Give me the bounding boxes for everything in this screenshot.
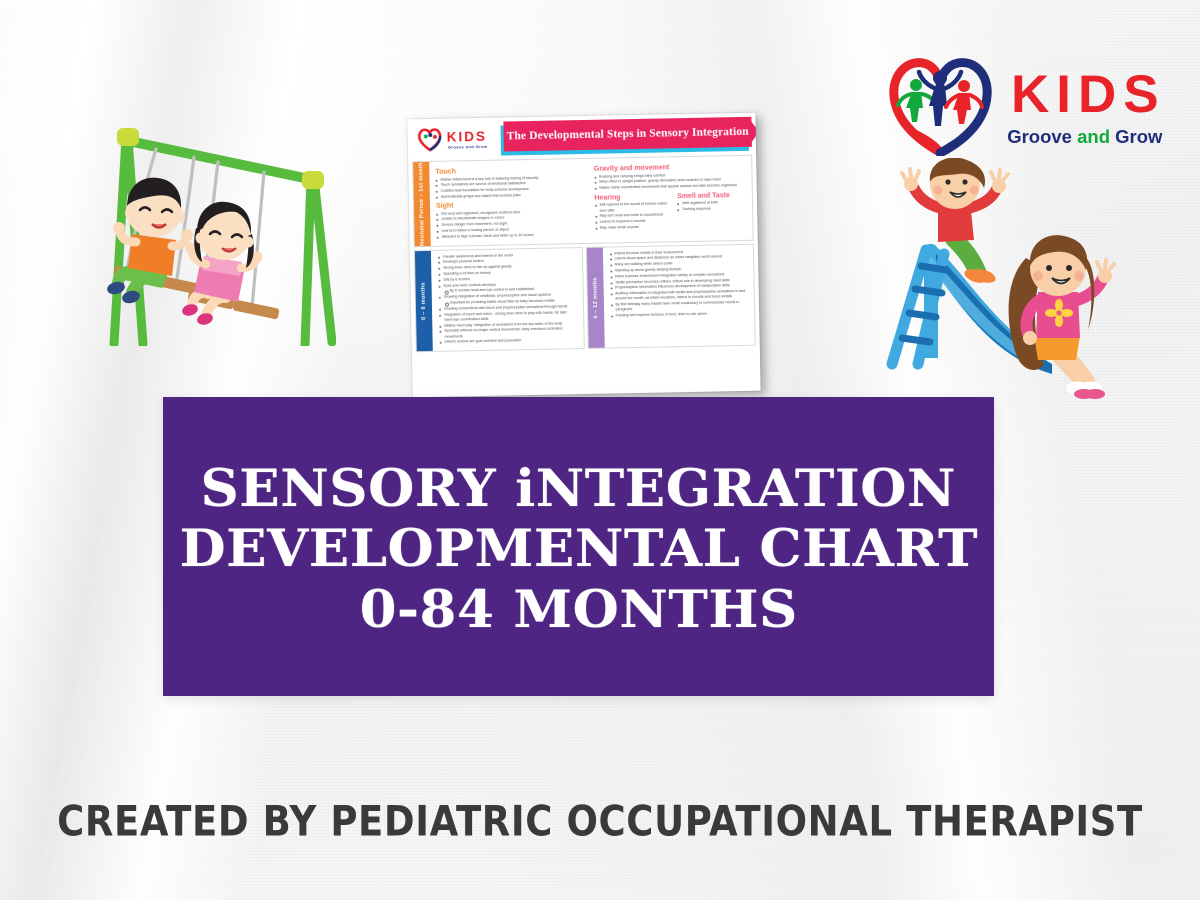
panel-tab-neonatal: Neonatal Period – 1st month (413, 162, 431, 246)
panel-tab-label: 0 – 6 months (420, 282, 427, 320)
document-banner-title: The Developmental Steps in Sensory Integ… (507, 126, 749, 143)
section-heading-smell-taste: Smell and Taste (677, 192, 747, 200)
brand-tagline-grow: Grow (1115, 126, 1162, 147)
children-on-swing-set-icon (96, 116, 336, 346)
section-list-hearing: Will respond to the sound of human voice… (595, 202, 672, 231)
title-line-3: 0-84 MONTHS (359, 580, 797, 640)
heart-hands-with-children-icon (888, 52, 994, 156)
panel-list-6-12-months: Infants become mobile in their environme… (609, 248, 748, 318)
sensory-integration-chart-document: KIDS Groove and Grow The Developmental S… (407, 113, 760, 398)
section-list-touch: Mother-infant bond is a key role in fost… (435, 174, 588, 200)
poster-canvas: KIDS Groove and Grow The Developmental S… (0, 0, 1200, 900)
title-line-2: DEVELOPMENTAL CHART (179, 519, 977, 579)
panel-tab-6-12-months: 6 – 12 months (586, 247, 604, 348)
section-list-smell-taste: Well organized at birth Sucking response (677, 200, 747, 212)
section-list-sight: Not very well organized, recognizes moth… (436, 208, 589, 239)
document-panel-6-12-months: 6 – 12 months Infants become mobile in t… (585, 243, 755, 349)
document-panel-0-6-months: 0 – 6 months Greater awareness and inter… (414, 247, 584, 353)
panel-tab-0-6-months: 0 – 6 months (415, 251, 433, 352)
panel-column-left: Touch Mother-infant bond is a key role i… (435, 163, 589, 240)
footer-credit: CREATED BY PEDIATRIC OCCUPATIONAL THERAP… (0, 797, 1200, 845)
section-list-gravity: Rocking and carrying brings baby comfort… (594, 171, 747, 191)
brand-logo: KIDS Groove and Grow (888, 52, 1166, 156)
brand-name: KIDS (1004, 68, 1166, 121)
brand-tagline-groove: Groove (1007, 126, 1072, 147)
document-brand-name: KIDS (447, 129, 488, 145)
title-banner: SENSORY iNTEGRATION DEVELOPMENTAL CHART … (163, 397, 994, 696)
document-brand-tagline: Groove and Grow (448, 144, 488, 150)
list-item: Will respond to the sound of human voice… (595, 202, 672, 214)
title-line-1: SENSORY iNTEGRATION (201, 459, 957, 519)
document-brand-mark-icon (416, 126, 442, 152)
panel-tab-label: 6 – 12 months (592, 277, 599, 318)
panel-column-right: Gravity and movement Rocking and carryin… (594, 160, 748, 237)
panel-tab-label: Neonatal Period – 1st month (418, 162, 426, 246)
list-item: Sucking response (677, 206, 747, 213)
panel-list-0-6-months: Greater awareness and interest in the wo… (438, 252, 577, 346)
section-heading-hearing: Hearing (594, 193, 671, 201)
document-panel-neonatal: Neonatal Period – 1st month Touch Mother… (412, 155, 754, 247)
document-banner: The Developmental Steps in Sensory Integ… (503, 117, 752, 152)
brand-wordmark: KIDS Groove and Grow (1004, 62, 1166, 147)
list-item: May make small sounds (595, 224, 672, 231)
document-header: KIDS Groove and Grow The Developmental S… (407, 113, 756, 160)
banner-arrow-icon (749, 119, 758, 145)
children-on-slide-icon (866, 158, 1122, 404)
brand-tagline: Groove and Grow (1007, 128, 1162, 147)
brand-tagline-and: and (1077, 126, 1110, 147)
